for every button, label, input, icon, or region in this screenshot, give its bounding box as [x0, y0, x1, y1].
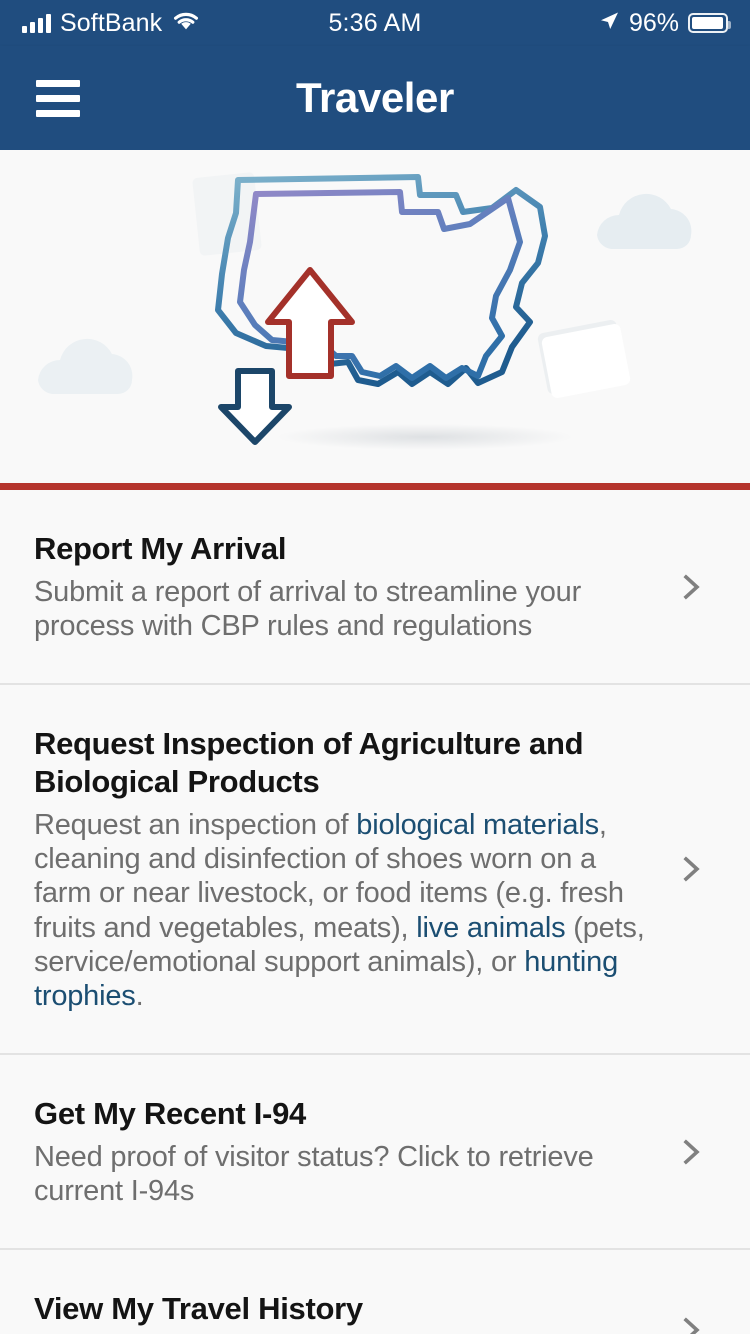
status-bar-left: SoftBank: [22, 9, 598, 38]
app-screen: SoftBank 5:36 AM 96% Travel: [0, 0, 750, 1334]
chevron-right-icon[interactable]: [678, 856, 704, 882]
location-arrow-icon: [598, 10, 620, 37]
status-bar-right: 96%: [598, 9, 728, 38]
list-item[interactable]: View My Travel History View your U.S. ar…: [0, 1250, 750, 1334]
page-title: Traveler: [0, 74, 750, 122]
signal-bars-icon: [22, 13, 51, 33]
list-item-description: Submit a report of arrival to streamline…: [34, 575, 654, 643]
list-item-body: View My Travel History View your U.S. ar…: [34, 1290, 678, 1334]
ground-shadow: [277, 424, 573, 450]
status-bar: SoftBank 5:36 AM 96%: [0, 0, 750, 46]
chevron-right-icon[interactable]: [678, 1317, 704, 1334]
us-map-with-arrows-illustration: [0, 150, 750, 483]
wifi-icon: [171, 10, 201, 37]
list-item-title: Request Inspection of Agriculture and Bi…: [34, 725, 654, 801]
menu-list: Report My Arrival Submit a report of arr…: [0, 490, 750, 1334]
list-item[interactable]: Get My Recent I-94 Need proof of visitor…: [0, 1055, 750, 1250]
list-item-body: Get My Recent I-94 Need proof of visitor…: [34, 1095, 678, 1208]
list-item-description: Request an inspection of biological mate…: [34, 808, 654, 1013]
hero-illustration: [0, 150, 750, 483]
cloud-left: [38, 339, 132, 394]
list-item-title: Report My Arrival: [34, 530, 654, 568]
carrier-label: SoftBank: [60, 9, 162, 38]
cloud-right: [597, 194, 691, 249]
list-item[interactable]: Request Inspection of Agriculture and Bi…: [0, 685, 750, 1055]
battery-icon: [688, 13, 728, 33]
inline-link[interactable]: live animals: [416, 912, 565, 944]
inline-link[interactable]: biological materials: [356, 809, 599, 841]
list-item-body: Report My Arrival Submit a report of arr…: [34, 530, 678, 643]
red-divider-rule: [0, 483, 750, 490]
list-item-description: Need proof of visitor status? Click to r…: [34, 1140, 654, 1208]
navy-down-arrow: [221, 371, 289, 442]
hamburger-menu-icon[interactable]: [36, 80, 80, 117]
chevron-right-icon[interactable]: [678, 1139, 704, 1165]
navigation-bar: Traveler: [0, 46, 750, 150]
list-item-body: Request Inspection of Agriculture and Bi…: [34, 725, 678, 1013]
inline-link[interactable]: hunting trophies: [34, 946, 618, 1012]
paper-card: [537, 319, 631, 399]
list-item-title: View My Travel History: [34, 1290, 654, 1328]
battery-percent-label: 96%: [629, 9, 679, 38]
list-item[interactable]: Report My Arrival Submit a report of arr…: [0, 490, 750, 685]
chevron-right-icon[interactable]: [678, 574, 704, 600]
list-item-title: Get My Recent I-94: [34, 1095, 654, 1133]
